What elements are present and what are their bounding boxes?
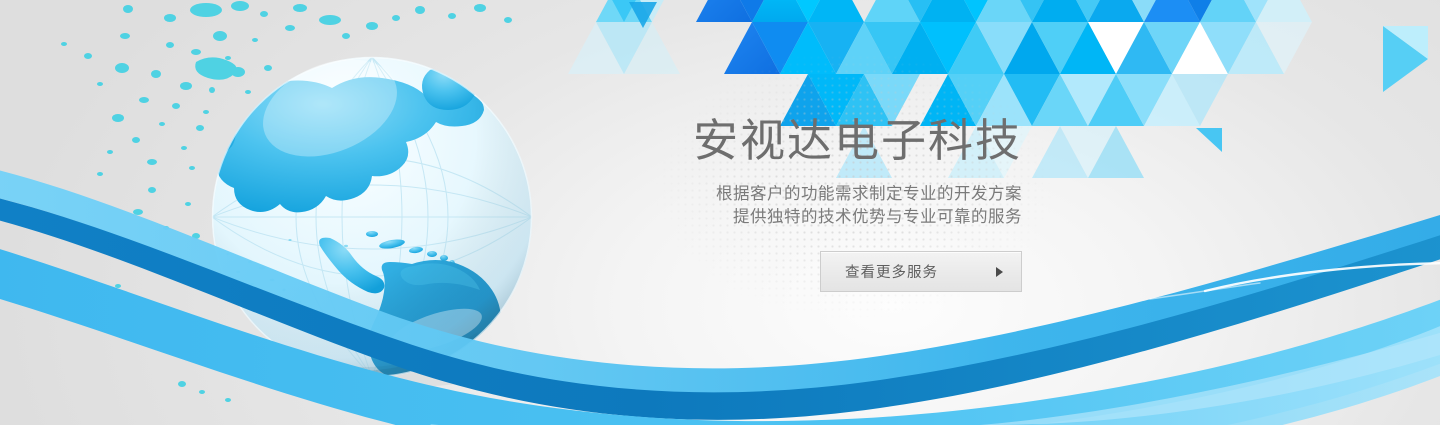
triangle-right-icon: [996, 267, 1003, 277]
subtitle-line-1: 根据客户的功能需求制定专业的开发方案: [600, 183, 1022, 206]
subtitle-line-2: 提供独特的技术优势与专业可靠的服务: [600, 206, 1022, 229]
hero-banner: 安视达电子科技 根据客户的功能需求制定专业的开发方案 提供独特的技术优势与专业可…: [0, 0, 1440, 425]
hero-content: 安视达电子科技 根据客户的功能需求制定专业的开发方案 提供独特的技术优势与专业可…: [600, 110, 1022, 292]
view-more-services-label: 查看更多服务: [845, 261, 938, 282]
view-more-services-button[interactable]: 查看更多服务: [820, 251, 1022, 292]
page-title: 安视达电子科技: [600, 110, 1022, 172]
